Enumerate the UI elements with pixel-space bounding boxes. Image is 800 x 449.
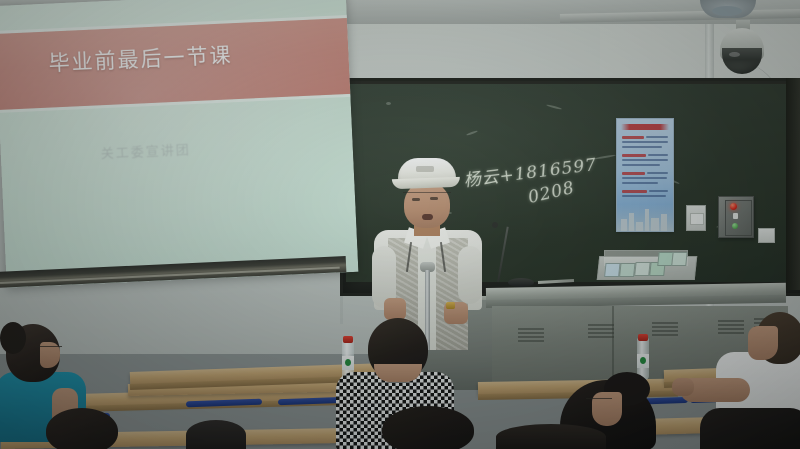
blackboard-right-edge [786, 78, 800, 290]
camera-highlight [729, 52, 740, 57]
attendee-center-front-head [382, 406, 474, 449]
chalk-tray [597, 256, 698, 280]
attendee-front-right-head [700, 408, 800, 449]
attendee-teal-bun [0, 322, 26, 354]
cap-brim [392, 177, 460, 189]
ceiling-fixture-lens [712, 6, 742, 16]
bottle-label-right [637, 354, 649, 368]
presenter-arm-right [458, 246, 482, 304]
presenter-mouth [422, 214, 433, 220]
attendee-white-shirt-hand [672, 378, 694, 396]
cap-logo [416, 166, 434, 172]
slide-background: 毕业前最后一节课 关工委宣讲团 [0, 0, 358, 288]
attendee-front-left2-head [186, 420, 246, 449]
bottle-cap-left [343, 336, 353, 343]
attendee-front-left-head [46, 408, 118, 449]
projector-glow [0, 0, 358, 288]
panel-window [690, 213, 704, 225]
microphone-head [492, 222, 498, 228]
attendee-glasses-icon [36, 346, 62, 355]
bottle-cap-right [638, 334, 648, 341]
attendee-front-center-head [496, 424, 606, 449]
power-indicator-icon [730, 203, 737, 210]
attendee-ponytail-glasses-icon [586, 398, 612, 407]
poster-city-image [617, 205, 673, 231]
presenter-face [404, 182, 450, 228]
poster-title-bar [621, 124, 669, 130]
wall-poster [616, 118, 674, 232]
classroom-photo: 杨云+1816597 0208 毕业前最后一节课 关工委宣讲团 [0, 0, 800, 449]
microphone-base [508, 278, 534, 287]
attendee-white-shirt-face [748, 326, 778, 360]
bottle-label-left [342, 356, 354, 370]
eyeglasses-icon [403, 192, 451, 202]
electrical-control-box[interactable] [718, 196, 754, 238]
attendee-patterned-neck [374, 364, 422, 382]
green-button[interactable] [732, 223, 738, 229]
wristwatch-icon [446, 302, 455, 309]
distribution-panel [686, 205, 706, 231]
toggle-switch[interactable] [733, 213, 738, 219]
wall-socket [758, 228, 775, 243]
projection-screen: 毕业前最后一节课 关工委宣讲团 [0, 0, 358, 288]
presenter-hand-left [384, 298, 406, 320]
